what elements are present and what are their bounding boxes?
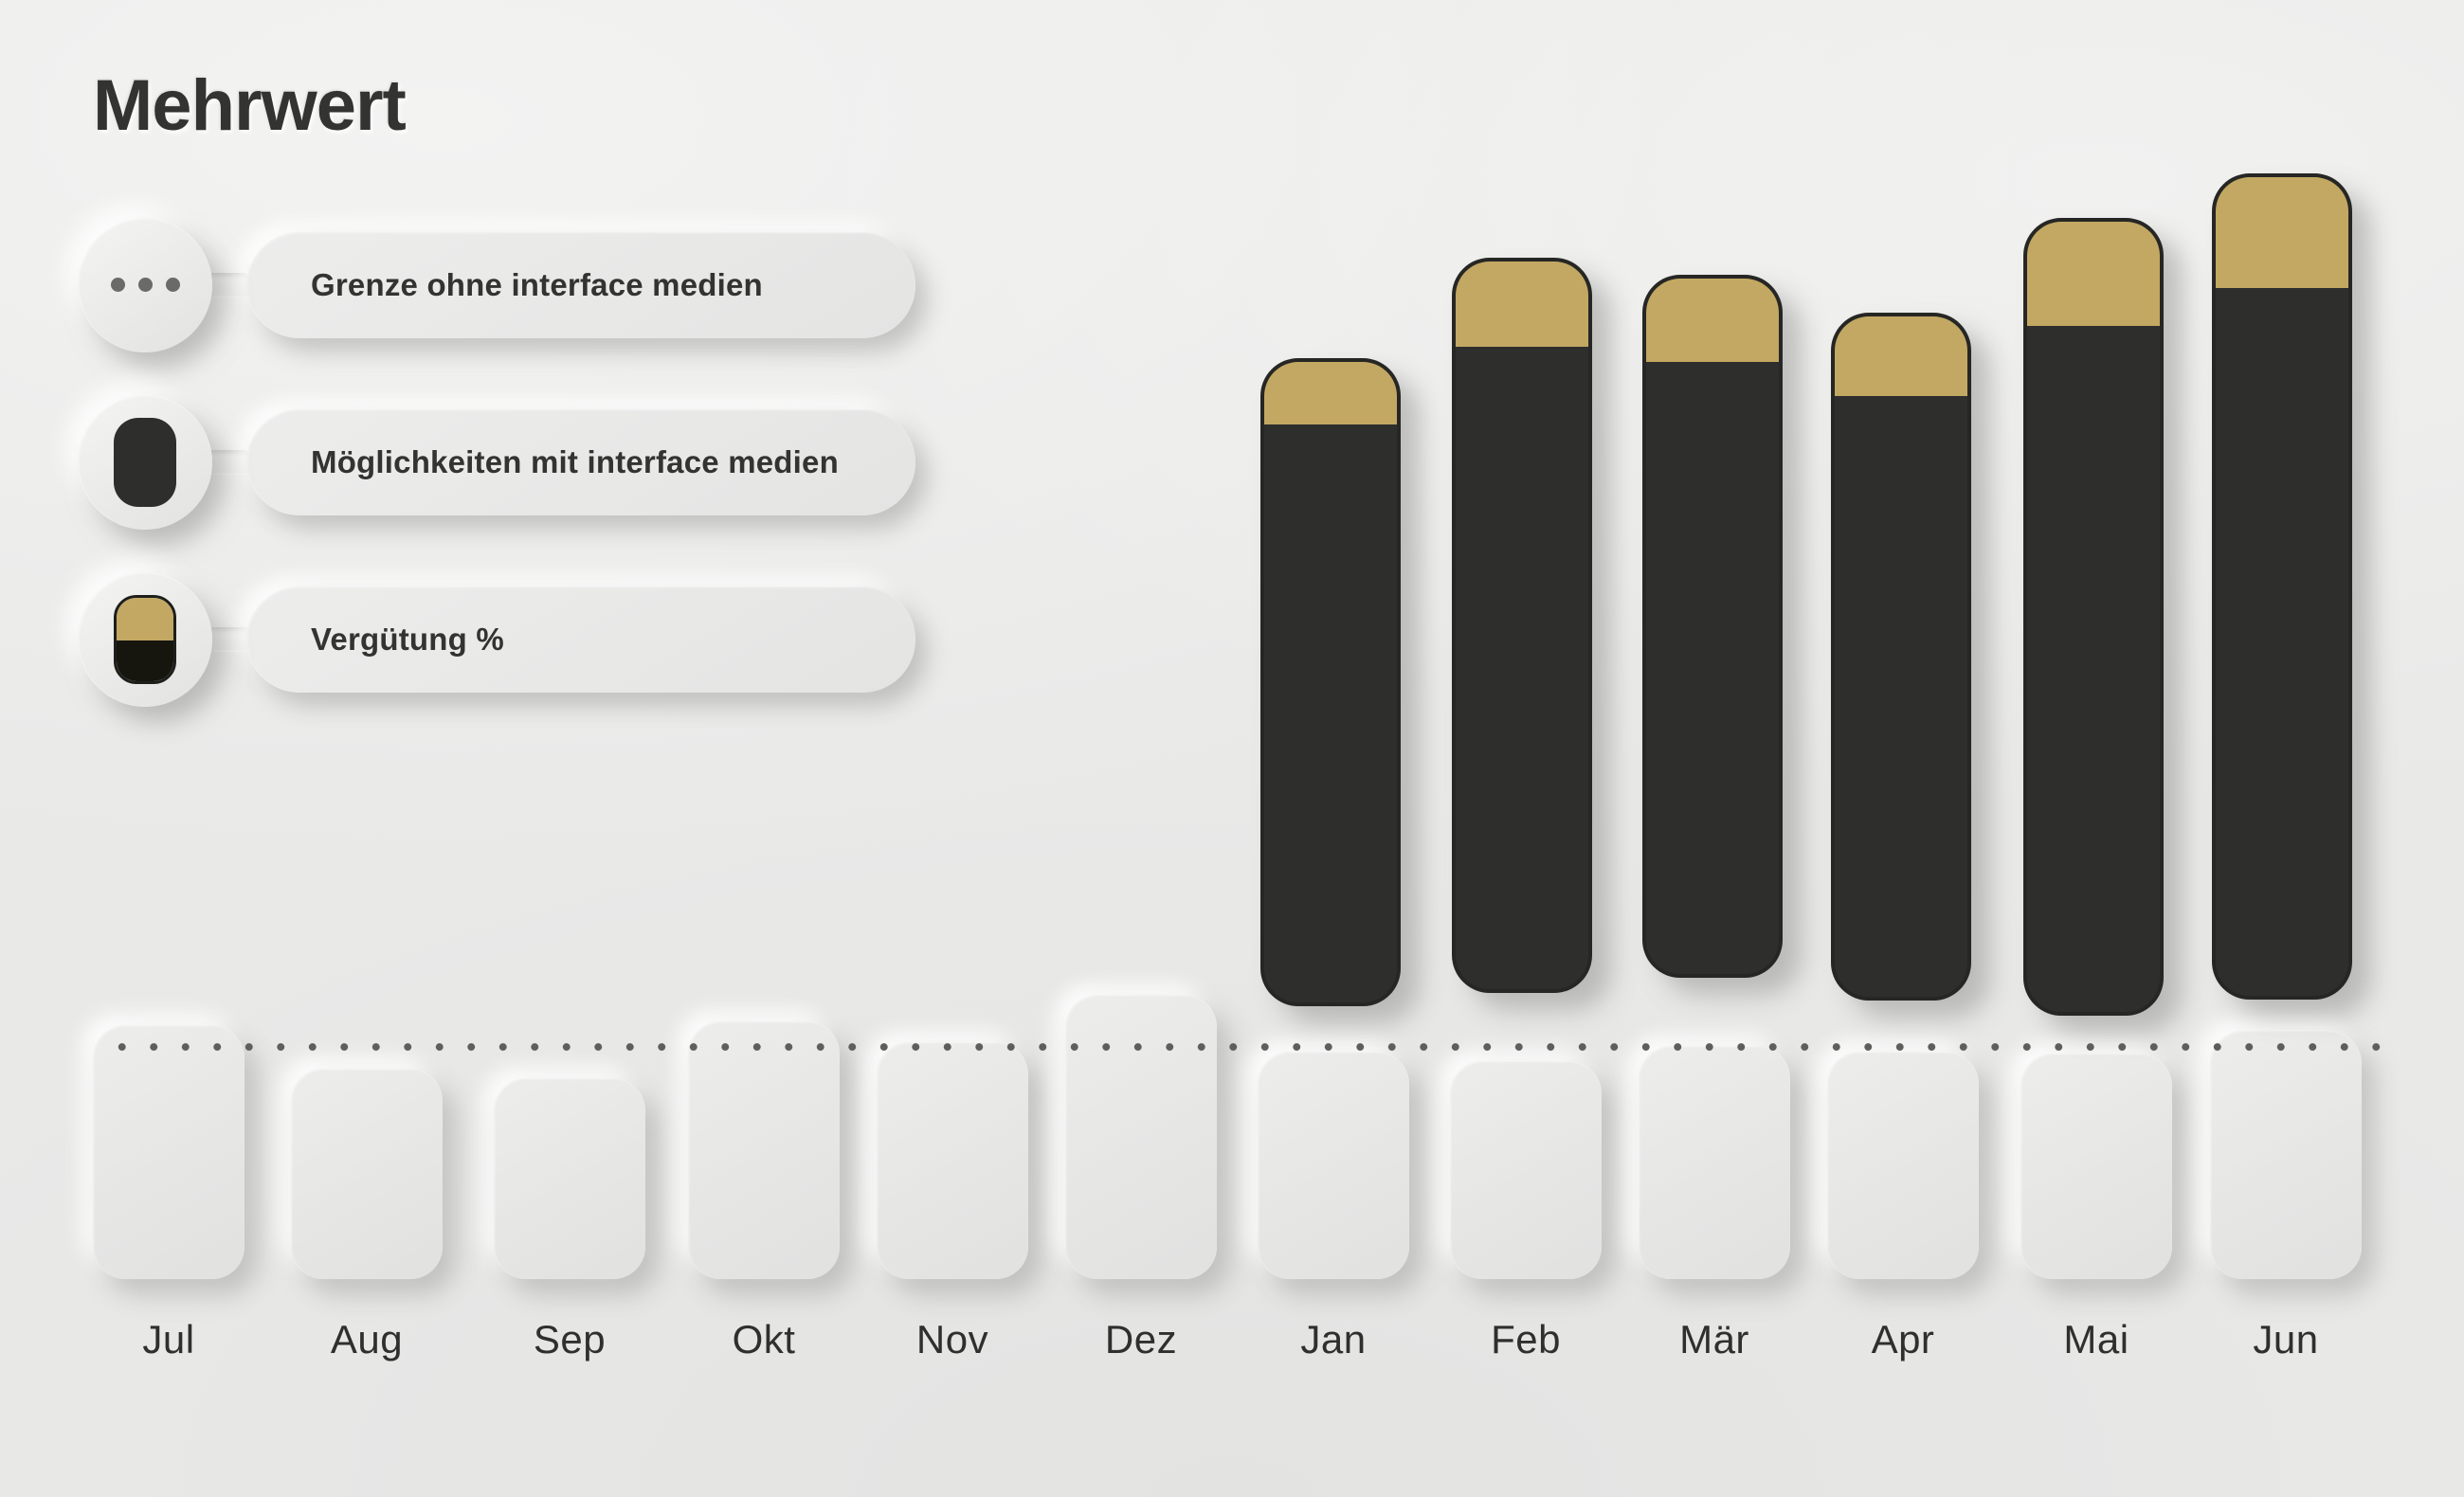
- month-tile-sep[interactable]: [494, 1078, 645, 1279]
- month-tile-dez[interactable]: [1065, 995, 1217, 1279]
- bar-apr[interactable]: [1831, 313, 1971, 1001]
- legend-item-grenze[interactable]: Grenze ohne interface medien: [78, 230, 915, 339]
- x-axis-label-nov: Nov: [877, 1317, 1028, 1362]
- legend-badge-verguetung: [78, 572, 212, 707]
- legend-item-moeglichkeiten[interactable]: Möglichkeiten mit interface medien: [78, 407, 915, 516]
- month-tile-feb[interactable]: [1450, 1061, 1602, 1279]
- bar-jun-gold-segment: [2216, 177, 2348, 296]
- bar-maer-dark-segment: [1646, 362, 1779, 974]
- legend-connector: [208, 273, 248, 298]
- x-axis-label-apr: Apr: [1827, 1317, 1979, 1362]
- month-tile-jun[interactable]: [2210, 1031, 2362, 1279]
- x-axis-label-aug: Aug: [291, 1317, 443, 1362]
- x-axis-label-maer: Mär: [1639, 1317, 1790, 1362]
- legend-connector: [208, 450, 248, 475]
- page-title: Mehrwert: [93, 64, 406, 147]
- legend-item-verguetung[interactable]: Vergütung %: [78, 585, 915, 694]
- gold-dark-split-icon: [114, 595, 176, 684]
- x-axis-label-okt: Okt: [688, 1317, 840, 1362]
- bar-jan[interactable]: [1260, 358, 1401, 1006]
- x-axis-label-jul: Jul: [93, 1317, 245, 1362]
- legend-label-verguetung: Vergütung %: [246, 622, 561, 658]
- month-tile-mai[interactable]: [2020, 1054, 2172, 1279]
- three-dots-icon: [111, 278, 180, 292]
- bar-mai-gold-segment: [2027, 222, 2160, 334]
- dotted-baseline: [106, 1042, 2381, 1052]
- x-axis-label-jun: Jun: [2210, 1317, 2362, 1362]
- bar-jun[interactable]: [2212, 173, 2352, 1000]
- x-axis-label-jan: Jan: [1258, 1317, 1409, 1362]
- month-tile-apr[interactable]: [1827, 1052, 1979, 1279]
- legend: Grenze ohne interface medien Möglichkeit…: [78, 230, 915, 694]
- x-axis-label-feb: Feb: [1450, 1317, 1602, 1362]
- month-tile-jan[interactable]: [1258, 1052, 1409, 1279]
- bar-apr-gold-segment: [1835, 316, 1967, 404]
- legend-connector: [208, 627, 248, 652]
- x-axis-label-sep: Sep: [494, 1317, 645, 1362]
- x-axis-label-dez: Dez: [1065, 1317, 1217, 1362]
- x-axis-label-mai: Mai: [2020, 1317, 2172, 1362]
- bar-mai[interactable]: [2023, 218, 2164, 1016]
- month-tile-aug[interactable]: [291, 1069, 443, 1279]
- legend-pill-verguetung[interactable]: Vergütung %: [246, 586, 915, 693]
- bar-feb[interactable]: [1452, 258, 1592, 993]
- bar-apr-dark-segment: [1835, 396, 1967, 997]
- bar-jan-dark-segment: [1264, 424, 1397, 1002]
- month-tile-maer[interactable]: [1639, 1046, 1790, 1279]
- legend-pill-grenze[interactable]: Grenze ohne interface medien: [246, 232, 915, 338]
- legend-label-grenze: Grenze ohne interface medien: [246, 267, 820, 303]
- dark-pill-icon: [114, 418, 176, 507]
- bar-chart: Jul Aug Sep Okt Nov Dez Jan Feb Mär Apr …: [0, 0, 2464, 1497]
- bar-jan-gold-segment: [1264, 362, 1397, 432]
- month-tile-okt[interactable]: [688, 1021, 840, 1279]
- bar-mai-dark-segment: [2027, 326, 2160, 1012]
- legend-badge-grenze: [78, 218, 212, 352]
- legend-badge-moeglichkeiten: [78, 395, 212, 530]
- bar-maer-gold-segment: [1646, 279, 1779, 370]
- month-tile-jul[interactable]: [93, 1025, 245, 1279]
- bar-jun-dark-segment: [2216, 288, 2348, 996]
- legend-pill-moeglichkeiten[interactable]: Möglichkeiten mit interface medien: [246, 409, 915, 515]
- month-tile-nov[interactable]: [877, 1042, 1028, 1279]
- legend-label-moeglichkeiten: Möglichkeiten mit interface medien: [246, 444, 896, 480]
- bar-maer[interactable]: [1642, 275, 1783, 978]
- bar-feb-dark-segment: [1456, 347, 1588, 989]
- bar-feb-gold-segment: [1456, 262, 1588, 354]
